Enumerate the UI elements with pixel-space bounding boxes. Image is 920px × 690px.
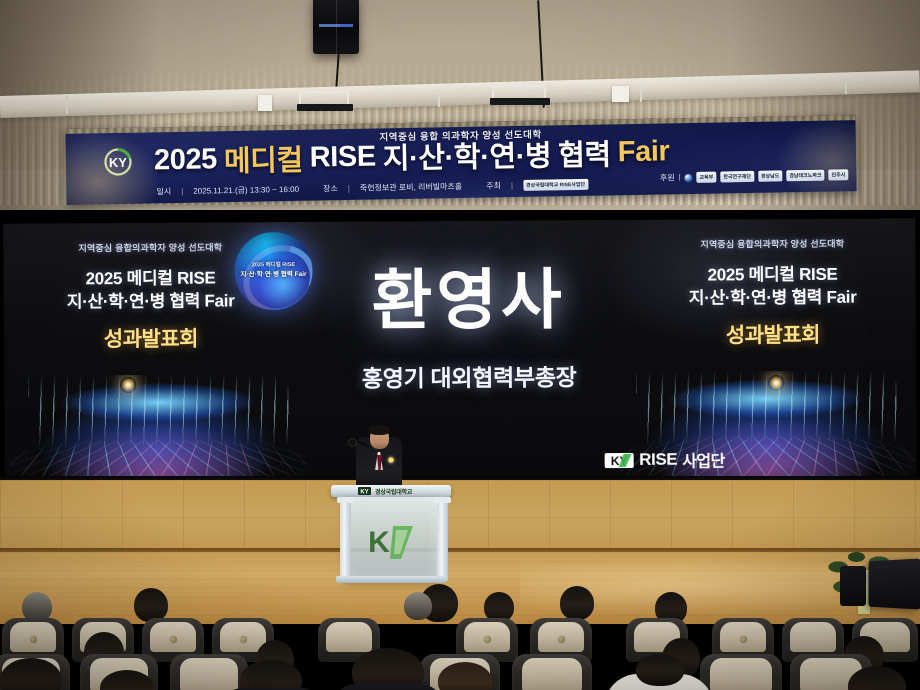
svg-text:KY: KY [360, 489, 368, 495]
left-panel-kicker: 지역중심 융합의과학자 양성 선도대학 [35, 240, 265, 254]
ky-logo-icon: KY [358, 487, 372, 495]
ledge-pole-2 [438, 90, 440, 107]
presenter-corsage-icon [388, 457, 394, 463]
banner-host-value: 경상국립대학교 RISE사업단 [526, 180, 585, 188]
sponsor-chip-4: 경남테크노파크 [786, 170, 824, 182]
seat-button-icon [484, 636, 491, 643]
banner-title-medical: 메디컬 [224, 137, 304, 180]
svg-text:K: K [368, 526, 390, 559]
banner-title-chain: 지·산·학·연·병 [382, 132, 551, 177]
presenter-hair [369, 425, 390, 435]
banner-sep-4: | [679, 174, 681, 181]
podium-column-left [340, 497, 351, 581]
screen-left-panel: 지역중심 융합의과학자 양성 선도대학 2025 메디컬 RISE 지·산·학·… [35, 240, 266, 353]
left-panel-line1: 2025 메디컬 RISE [35, 267, 265, 291]
banner-title-coop: 협력 [558, 131, 611, 174]
sponsor-seal-icon [684, 173, 692, 181]
ky-logo-icon: K [362, 520, 420, 564]
hanging-line-array-speaker-icon [313, 0, 359, 54]
right-panel-line3: 성과발표회 [658, 318, 888, 349]
attendee-head [134, 588, 168, 622]
banner-title-fair: Fair [617, 135, 669, 169]
ky-logo-icon: KY [604, 451, 634, 468]
rise-logo-text-ko: 사업단 [682, 447, 725, 471]
seat-button-icon [740, 636, 747, 643]
attendee-head [560, 586, 594, 620]
right-panel-line1: 2025 메디컬 RISE [657, 263, 887, 287]
ledge-box-left [258, 95, 272, 111]
seat-headrest [180, 658, 238, 690]
rise-footer-logo: KY RISE 사업단 [604, 447, 725, 472]
ledge-rail-left-base [297, 104, 353, 111]
sponsor-chip-5: 진주시 [828, 169, 848, 180]
screen-right-panel: 지역중심 융합의과학자 양성 선도대학 2025 메디컬 RISE 지·산·학·… [657, 236, 888, 349]
ledge-pole-1 [66, 96, 68, 114]
seat-button-icon [170, 636, 177, 643]
svg-text:KY: KY [109, 155, 128, 170]
banner-sep-2: | [348, 183, 350, 192]
blue-network-grid-graphic-left [10, 374, 307, 486]
speaker-led-indicators [319, 24, 353, 27]
seat-button-icon [558, 636, 565, 643]
ledge-pole-3 [640, 86, 642, 102]
ledge-box-right [612, 86, 629, 102]
attendee-head [404, 592, 432, 620]
banner-sponsor-label: 후원 [660, 172, 675, 183]
sponsor-chip-2: 한국연구재단 [720, 171, 754, 183]
emblem-line-2: 지·산·학·연·병 협력 Fair [234, 268, 312, 278]
banner-place-label: 장소 [323, 183, 338, 194]
seat-headrest [790, 622, 836, 652]
podium-nameplate: KY 경상국립대학교 [358, 487, 424, 495]
attendee-head [636, 654, 684, 686]
microphone-capsule [349, 439, 356, 446]
screen-main-title: 환영사 [303, 266, 633, 334]
podium-column-right [437, 497, 448, 581]
banner-sep-3: | [511, 181, 513, 190]
seat-headrest [326, 622, 372, 652]
podium-nameplate-text: 경상국립대학교 [375, 487, 412, 496]
banner-date-label: 일시 [156, 186, 171, 197]
led-presentation-screen: 2025 메디컬 RISE 지·산·학·연·병 협력 Fair 지역중심 융합의… [3, 218, 917, 486]
ledge-rail-left [299, 91, 349, 105]
attendee-shoulders [332, 684, 444, 690]
banner-place-value: 죽헌정보관 로비, 리버빌마츠홀 [360, 180, 463, 193]
rise-logo-text-en: RISE [639, 450, 677, 470]
graphic-star-right [768, 375, 784, 391]
seat-headrest [522, 658, 582, 690]
banner-host-chip: 경상국립대학교 RISE사업단 [523, 178, 588, 190]
sponsor-chip-3: 경상남도 [758, 170, 783, 181]
auditorium-photo-scene: 지역중심 융합 의과학자 양성 선도대학 KY 2025 메디컬 RISE 지·… [0, 0, 920, 690]
banner-sep-1: | [181, 186, 183, 195]
ky-logo-icon: KY [92, 147, 145, 178]
seat-headrest [710, 658, 772, 690]
right-panel-kicker: 지역중심 융합의과학자 양성 선도대학 [657, 236, 887, 250]
seat-button-icon [240, 636, 247, 643]
screen-center-block: 환영사 홍영기 대외협력부총장 [303, 266, 634, 394]
left-panel-line3: 성과발표회 [36, 322, 266, 353]
banner-host-label: 주최 [486, 180, 501, 191]
ledge-pole-4 [845, 78, 847, 94]
ledge-rail-right-base [490, 98, 550, 105]
screen-speaker-name: 홍영기 대외협력부총장 [304, 358, 634, 394]
ledge-rail-right [492, 85, 546, 99]
left-panel-line2: 지·산·학·연·병 협력 Fair [36, 290, 266, 314]
graphic-star-left [120, 377, 136, 393]
banner-title-rise: RISE [309, 140, 376, 174]
right-panel-line2: 지·산·학·연·병 협력 Fair [658, 286, 888, 310]
podium-column-cap-left [337, 497, 354, 503]
banner-date-value: 2025.11.21.(금) 13:30 ~ 16:00 [193, 183, 299, 196]
event-banner: 지역중심 융합 의과학자 양성 선도대학 KY 2025 메디컬 RISE 지·… [65, 115, 856, 205]
audience-seating-area [0, 596, 920, 690]
podium-column-cap-right [434, 497, 451, 503]
seat-button-icon [30, 636, 37, 643]
sponsor-chip-1: 교육부 [696, 172, 716, 183]
podium-base [336, 576, 446, 583]
banner-title-year: 2025 [154, 143, 217, 177]
